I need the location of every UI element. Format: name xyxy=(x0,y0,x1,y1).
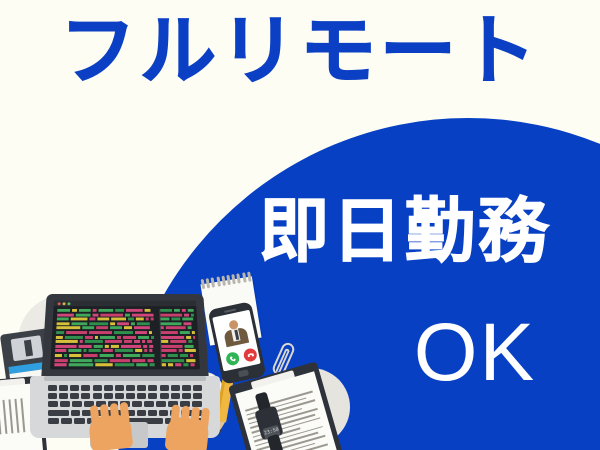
keyboard-key xyxy=(137,385,146,391)
keyboard-key xyxy=(59,385,68,391)
keyboard-key xyxy=(71,410,80,416)
keyboard-key xyxy=(93,393,102,399)
keyboard-key xyxy=(104,385,113,391)
keyboard-key xyxy=(115,393,124,399)
keyboard-key xyxy=(74,418,85,424)
keyboard-key xyxy=(70,385,79,391)
code-line xyxy=(162,354,197,357)
badge-title-same-day-work: 即日勤務 xyxy=(240,196,570,266)
keyboard-key xyxy=(104,393,113,399)
code-line xyxy=(162,363,197,366)
keyboard-key xyxy=(48,418,59,424)
code-line xyxy=(160,309,193,312)
code-line xyxy=(161,349,196,352)
code-line xyxy=(55,359,155,362)
poster-canvas: 23:50 フルリモート xyxy=(0,0,600,450)
keyboard-key xyxy=(126,385,135,391)
page-title-full-remote: フルリモート xyxy=(0,14,600,90)
keyboard-key xyxy=(156,401,166,407)
window-dot-green xyxy=(67,302,70,305)
accept-call-icon xyxy=(225,351,240,366)
code-line xyxy=(161,318,195,321)
code-line xyxy=(161,336,195,339)
code-line xyxy=(56,327,154,330)
keyboard-row xyxy=(48,393,202,399)
keyboard-key xyxy=(159,410,168,416)
keyboard-key xyxy=(48,410,69,416)
keyboard-key xyxy=(81,393,90,399)
keyboard-key xyxy=(59,393,68,399)
keyboard-key xyxy=(81,385,90,391)
keyboard-key xyxy=(48,385,57,391)
editor-titlebar xyxy=(54,301,197,307)
keyboard-key xyxy=(72,401,82,407)
badge-subtitle-ok: OK xyxy=(380,312,570,394)
decline-call-icon xyxy=(243,347,258,362)
code-line xyxy=(161,345,195,348)
code-line xyxy=(54,363,154,366)
keyboard-key xyxy=(144,401,154,407)
laptop-lid xyxy=(41,294,209,379)
keyboard-key xyxy=(48,401,58,407)
keyboard-key xyxy=(132,401,142,407)
code-line xyxy=(56,340,155,343)
code-line xyxy=(57,313,154,316)
keyboard-row xyxy=(48,385,202,391)
code-line xyxy=(57,318,154,321)
phone-home-button xyxy=(238,369,249,377)
window-dot-red xyxy=(58,302,61,305)
code-line xyxy=(162,359,197,362)
keyboard-key xyxy=(126,393,135,399)
code-line xyxy=(56,331,154,334)
code-line xyxy=(57,322,154,325)
laptop-screen xyxy=(50,301,200,370)
code-line xyxy=(55,349,154,352)
code-line xyxy=(161,327,195,330)
keyboard-key xyxy=(160,393,169,399)
code-line xyxy=(161,331,195,334)
keyboard-key xyxy=(160,385,169,391)
code-line xyxy=(57,309,153,312)
keyboard-key xyxy=(182,393,191,399)
keyboard-key xyxy=(171,385,180,391)
code-line xyxy=(55,354,155,357)
keyboard-key xyxy=(193,385,202,391)
window-dot-yellow xyxy=(63,302,66,305)
keyboard-key xyxy=(115,385,124,391)
keyboard-key xyxy=(61,418,72,424)
keyboard-key xyxy=(137,410,146,416)
laptop-hinge xyxy=(44,376,206,381)
code-line xyxy=(161,340,195,343)
document-lines xyxy=(0,398,29,434)
keyboard-key xyxy=(148,410,157,416)
code-line xyxy=(161,322,195,325)
code-pane-main xyxy=(54,309,154,366)
keyboard-key xyxy=(48,393,57,399)
code-pane-minimap xyxy=(159,309,196,366)
code-line xyxy=(55,345,154,348)
keyboard-key xyxy=(148,393,157,399)
keyboard-key xyxy=(70,393,79,399)
keyboard-key xyxy=(93,385,102,391)
keyboard-key xyxy=(171,393,180,399)
keyboard-key xyxy=(148,385,157,391)
keyboard-key xyxy=(137,393,146,399)
keyboard-key xyxy=(60,401,70,407)
keyboard-key xyxy=(193,393,202,399)
code-line xyxy=(160,313,194,316)
keyboard-key xyxy=(182,385,191,391)
code-line xyxy=(56,336,154,339)
